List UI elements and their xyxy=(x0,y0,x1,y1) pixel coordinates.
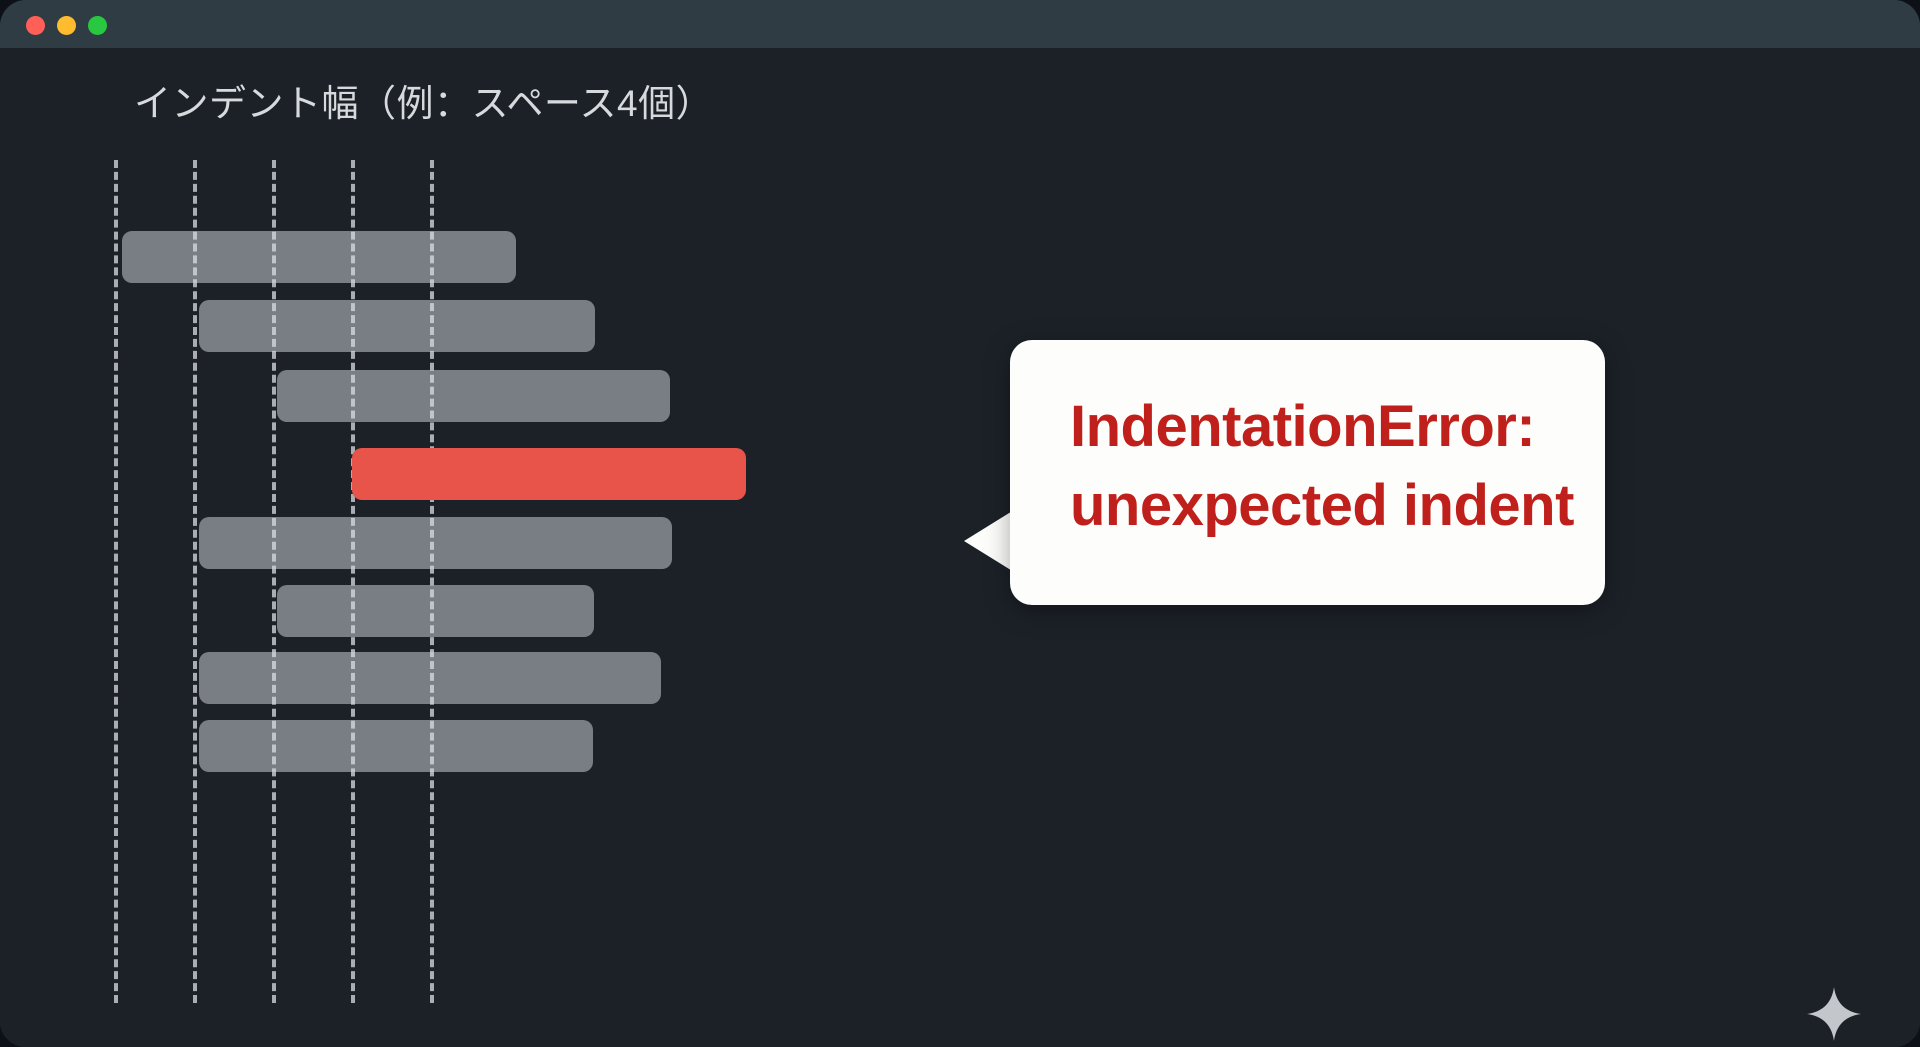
code-line-error xyxy=(352,448,746,500)
page-title: インデント幅（例：スペース4個） xyxy=(134,73,713,127)
traffic-light-group xyxy=(26,16,107,35)
code-line-5 xyxy=(199,517,672,569)
callout-text: IndentationError: unexpected indent xyxy=(1070,388,1570,546)
error-callout: IndentationError: unexpected indent xyxy=(1010,340,1605,605)
sparkle-icon xyxy=(1806,986,1862,1042)
minimize-window-button[interactable] xyxy=(57,16,76,35)
code-line-8 xyxy=(199,720,593,772)
indent-guide-1 xyxy=(114,160,118,1003)
indent-guide-2 xyxy=(193,160,197,1003)
maximize-window-button[interactable] xyxy=(88,16,107,35)
indent-guide-4 xyxy=(351,160,355,1003)
callout-line-2: unexpected indent xyxy=(1070,467,1570,546)
indent-guide-3 xyxy=(272,160,276,1003)
code-line-1 xyxy=(122,231,516,283)
slide-canvas: インデント幅（例：スペース4個） IndentationError: unexp… xyxy=(0,48,1920,1047)
code-line-7 xyxy=(199,652,661,704)
code-line-6 xyxy=(277,585,594,637)
close-window-button[interactable] xyxy=(26,16,45,35)
code-line-3 xyxy=(277,370,670,422)
code-line-2 xyxy=(199,300,595,352)
window-titlebar xyxy=(0,0,1920,50)
callout-tail-icon xyxy=(964,510,1014,572)
callout-line-1: IndentationError: xyxy=(1070,388,1570,467)
app-window: インデント幅（例：スペース4個） IndentationError: unexp… xyxy=(0,0,1920,1047)
indent-guide-5 xyxy=(430,160,434,1003)
